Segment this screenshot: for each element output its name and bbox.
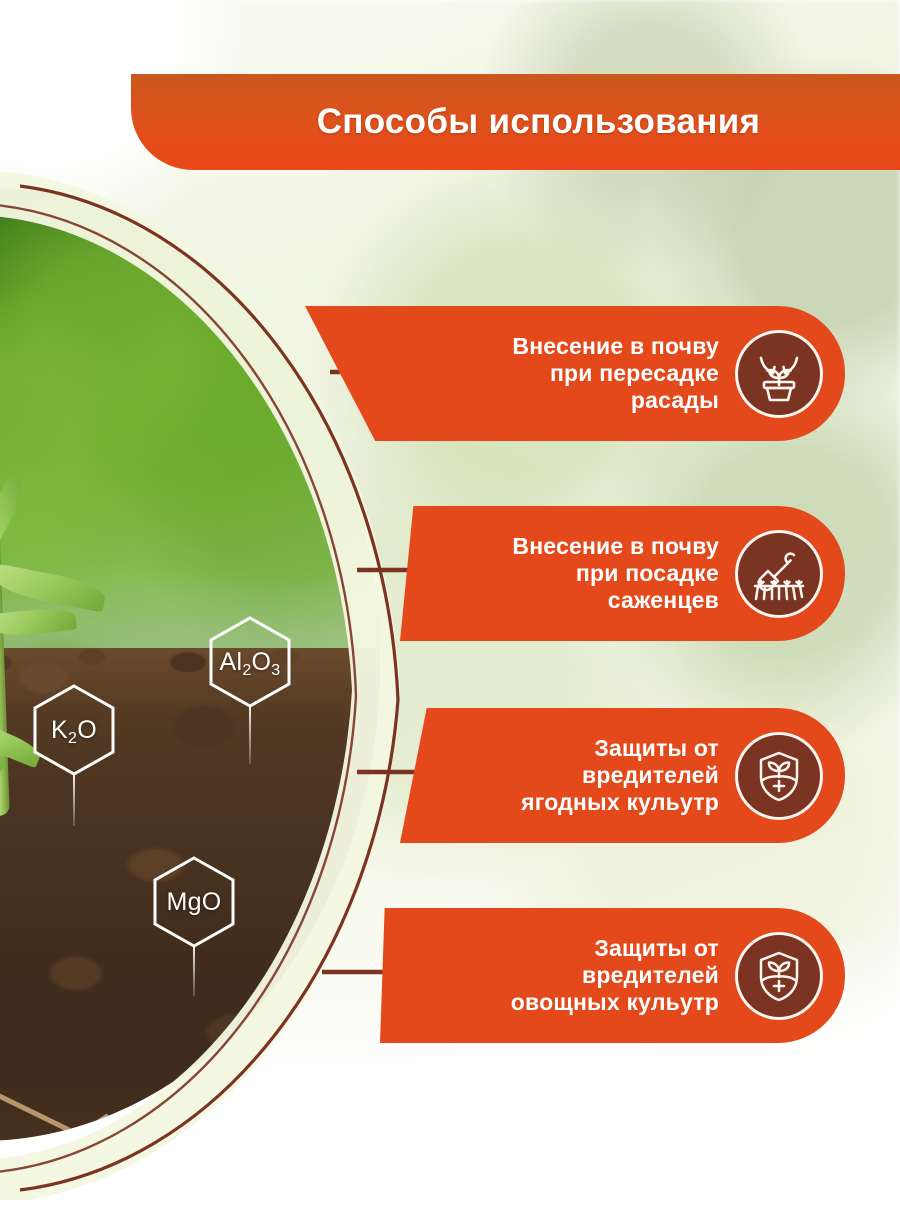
usage-card-soil-application-transplant[interactable]: Внесение в почву при пересадке расады [305, 306, 845, 441]
card-label: Внесение в почву при посадке саженцев [512, 533, 719, 613]
card-content: Внесение в почву при посадке саженцев [400, 506, 845, 641]
mineral-tag-mgo: MgO [152, 856, 236, 948]
mineral-formula-label: K2O [51, 716, 97, 745]
soil-surface-line [0, 638, 380, 672]
shield-plant-plus-icon [735, 932, 823, 1020]
page-title: Способы использования [317, 102, 761, 142]
mineral-tag-al2o3: Al2O3 [208, 616, 292, 708]
mineral-formula-label: MgO [166, 888, 221, 917]
usage-card-soil-application-sapling[interactable]: Внесение в почву при посадке саженцев [400, 506, 845, 641]
hexagon-outline: Al2O3 [208, 616, 292, 708]
hexagon-outline: MgO [152, 856, 236, 948]
card-content: Защиты от вредителей овощных кульутр [380, 908, 845, 1043]
header-banner: Способы использования [131, 74, 900, 170]
card-label: Защиты от вредителей ягодных кульутр [521, 735, 719, 815]
card-content: Внесение в почву при пересадке расады [305, 306, 845, 441]
potted-seedling-arrows-icon [735, 330, 823, 418]
mineral-formula-label: Al2O3 [220, 648, 281, 677]
card-content: Защиты от вредителей ягодных кульутр [400, 708, 845, 843]
hexagon-stem [249, 706, 251, 764]
hexagon-stem [73, 774, 75, 826]
hexagon-outline: K2O [32, 684, 116, 776]
mineral-tag-k2o: K2O [32, 684, 116, 776]
card-label: Защиты от вредителей овощных кульутр [511, 935, 719, 1015]
shovel-soil-icon [735, 530, 823, 618]
usage-card-berry-pest-protection[interactable]: Защиты от вредителей ягодных кульутр [400, 708, 845, 843]
card-label: Внесение в почву при пересадке расады [512, 333, 719, 413]
usage-card-vegetable-pest-protection[interactable]: Защиты от вредителей овощных кульутр [380, 908, 845, 1043]
shield-plant-plus-icon [735, 732, 823, 820]
hexagon-stem [193, 946, 195, 996]
